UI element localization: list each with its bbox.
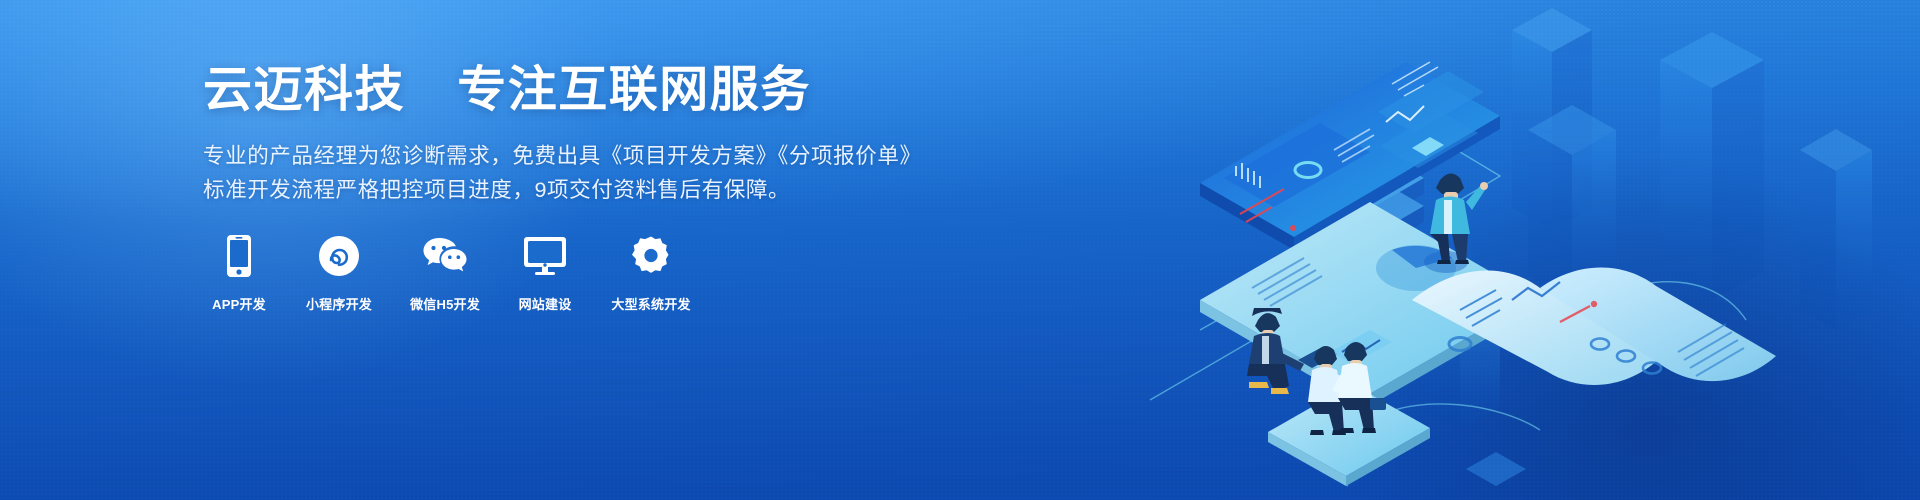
service-item-website[interactable]: 网站建设 (509, 232, 581, 313)
service-label: 微信H5开发 (410, 294, 480, 313)
wechat-icon (422, 232, 468, 280)
service-label: 网站建设 (519, 294, 572, 313)
monitor-icon (523, 232, 567, 280)
subtitle-line-1: 专业的产品经理为您诊断需求，免费出具《项目开发方案》《分项报价单》 (203, 139, 903, 173)
banner-copy: 云迈科技 专注互联网服务 专业的产品经理为您诊断需求，免费出具《项目开发方案》《… (203, 62, 903, 207)
mini-program-icon (318, 232, 360, 280)
headline-tagline: 专注互联网服务 (457, 63, 811, 117)
service-label: 大型系统开发 (611, 294, 690, 313)
service-label: 小程序开发 (306, 294, 372, 313)
service-item-wechat-h5[interactable]: 微信H5开发 (403, 232, 487, 313)
mobile-phone-icon (226, 232, 252, 280)
service-item-app[interactable]: APP开发 (203, 232, 275, 313)
hero-banner: 云迈科技 专注互联网服务 专业的产品经理为您诊断需求，免费出具《项目开发方案》《… (0, 0, 1920, 500)
illustration-isometric-data-scene (900, 0, 1920, 500)
service-item-miniprogram[interactable]: 小程序开发 (297, 232, 381, 313)
service-item-large-system[interactable]: 大型系统开发 (603, 232, 699, 313)
subtitle-block: 专业的产品经理为您诊断需求，免费出具《项目开发方案》《分项报价单》 标准开发流程… (203, 139, 903, 207)
headline-brand: 云迈科技 (203, 63, 405, 117)
page-title: 云迈科技 专注互联网服务 (203, 62, 903, 120)
standing-person (1424, 173, 1488, 273)
subtitle-line-2: 标准开发流程严格把控项目进度，9项交付资料售后有保障。 (203, 173, 903, 207)
service-label: APP开发 (212, 294, 266, 313)
gear-icon (630, 232, 672, 280)
service-list: APP开发 小程序开发 微信 (203, 232, 699, 313)
